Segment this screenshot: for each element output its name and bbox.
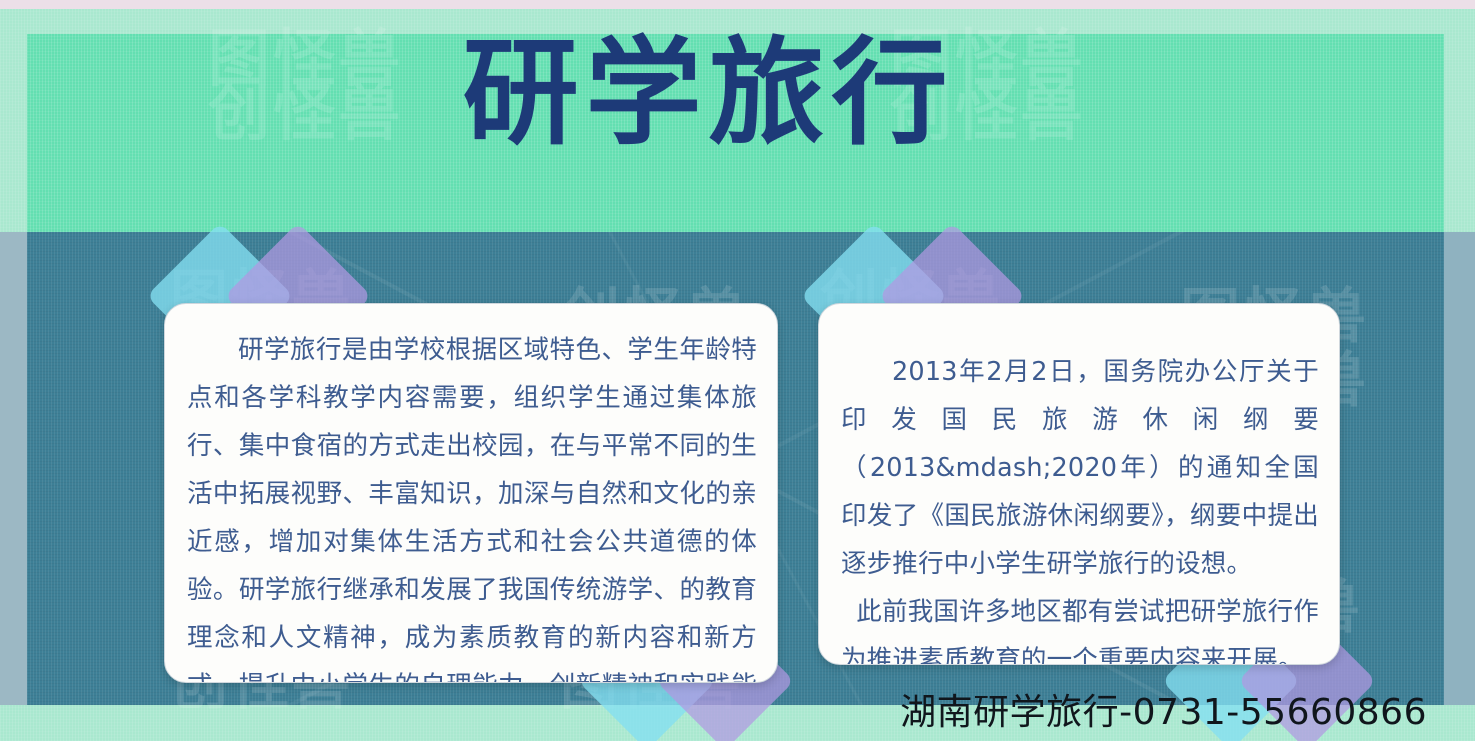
definition-card: 研学旅行是由学校根据区域特色、学生年龄特点和各学科教学内容需要，组织学生通过集体… — [164, 303, 778, 683]
left-edge-strip — [0, 232, 27, 705]
top-accent-strip — [0, 0, 1475, 9]
definition-paragraph: 研学旅行是由学校根据区域特色、学生年龄特点和各学科教学内容需要，组织学生通过集体… — [187, 326, 757, 683]
definition-card-body: 研学旅行是由学校根据区域特色、学生年龄特点和各学科教学内容需要，组织学生通过集体… — [165, 304, 777, 683]
poster-canvas: 图怪兽创怪兽图怪兽创怪兽创怪兽图怪兽创怪兽图怪兽创怪兽图怪兽创怪兽图怪兽创怪兽 … — [0, 0, 1475, 741]
policy-paragraph-2: 此前我国许多地区都有尝试把研学旅行作为推进素质教育的一个重要内容来开展。 — [841, 588, 1319, 665]
footer-contact-caption: 湖南研学旅行-0731-55660866 — [900, 683, 1427, 735]
policy-paragraph-1: 2013年2月2日，国务院办公厅关于印发国民旅游休闲纲要（2013&mdash;… — [841, 348, 1319, 588]
policy-card: 2013年2月2日，国务院办公厅关于印发国民旅游休闲纲要（2013&mdash;… — [818, 303, 1340, 665]
policy-card-body: 2013年2月2日，国务院办公厅关于印发国民旅游休闲纲要（2013&mdash;… — [819, 304, 1339, 665]
page-title: 研学旅行 — [0, 26, 1417, 163]
right-edge-strip — [1444, 232, 1475, 705]
